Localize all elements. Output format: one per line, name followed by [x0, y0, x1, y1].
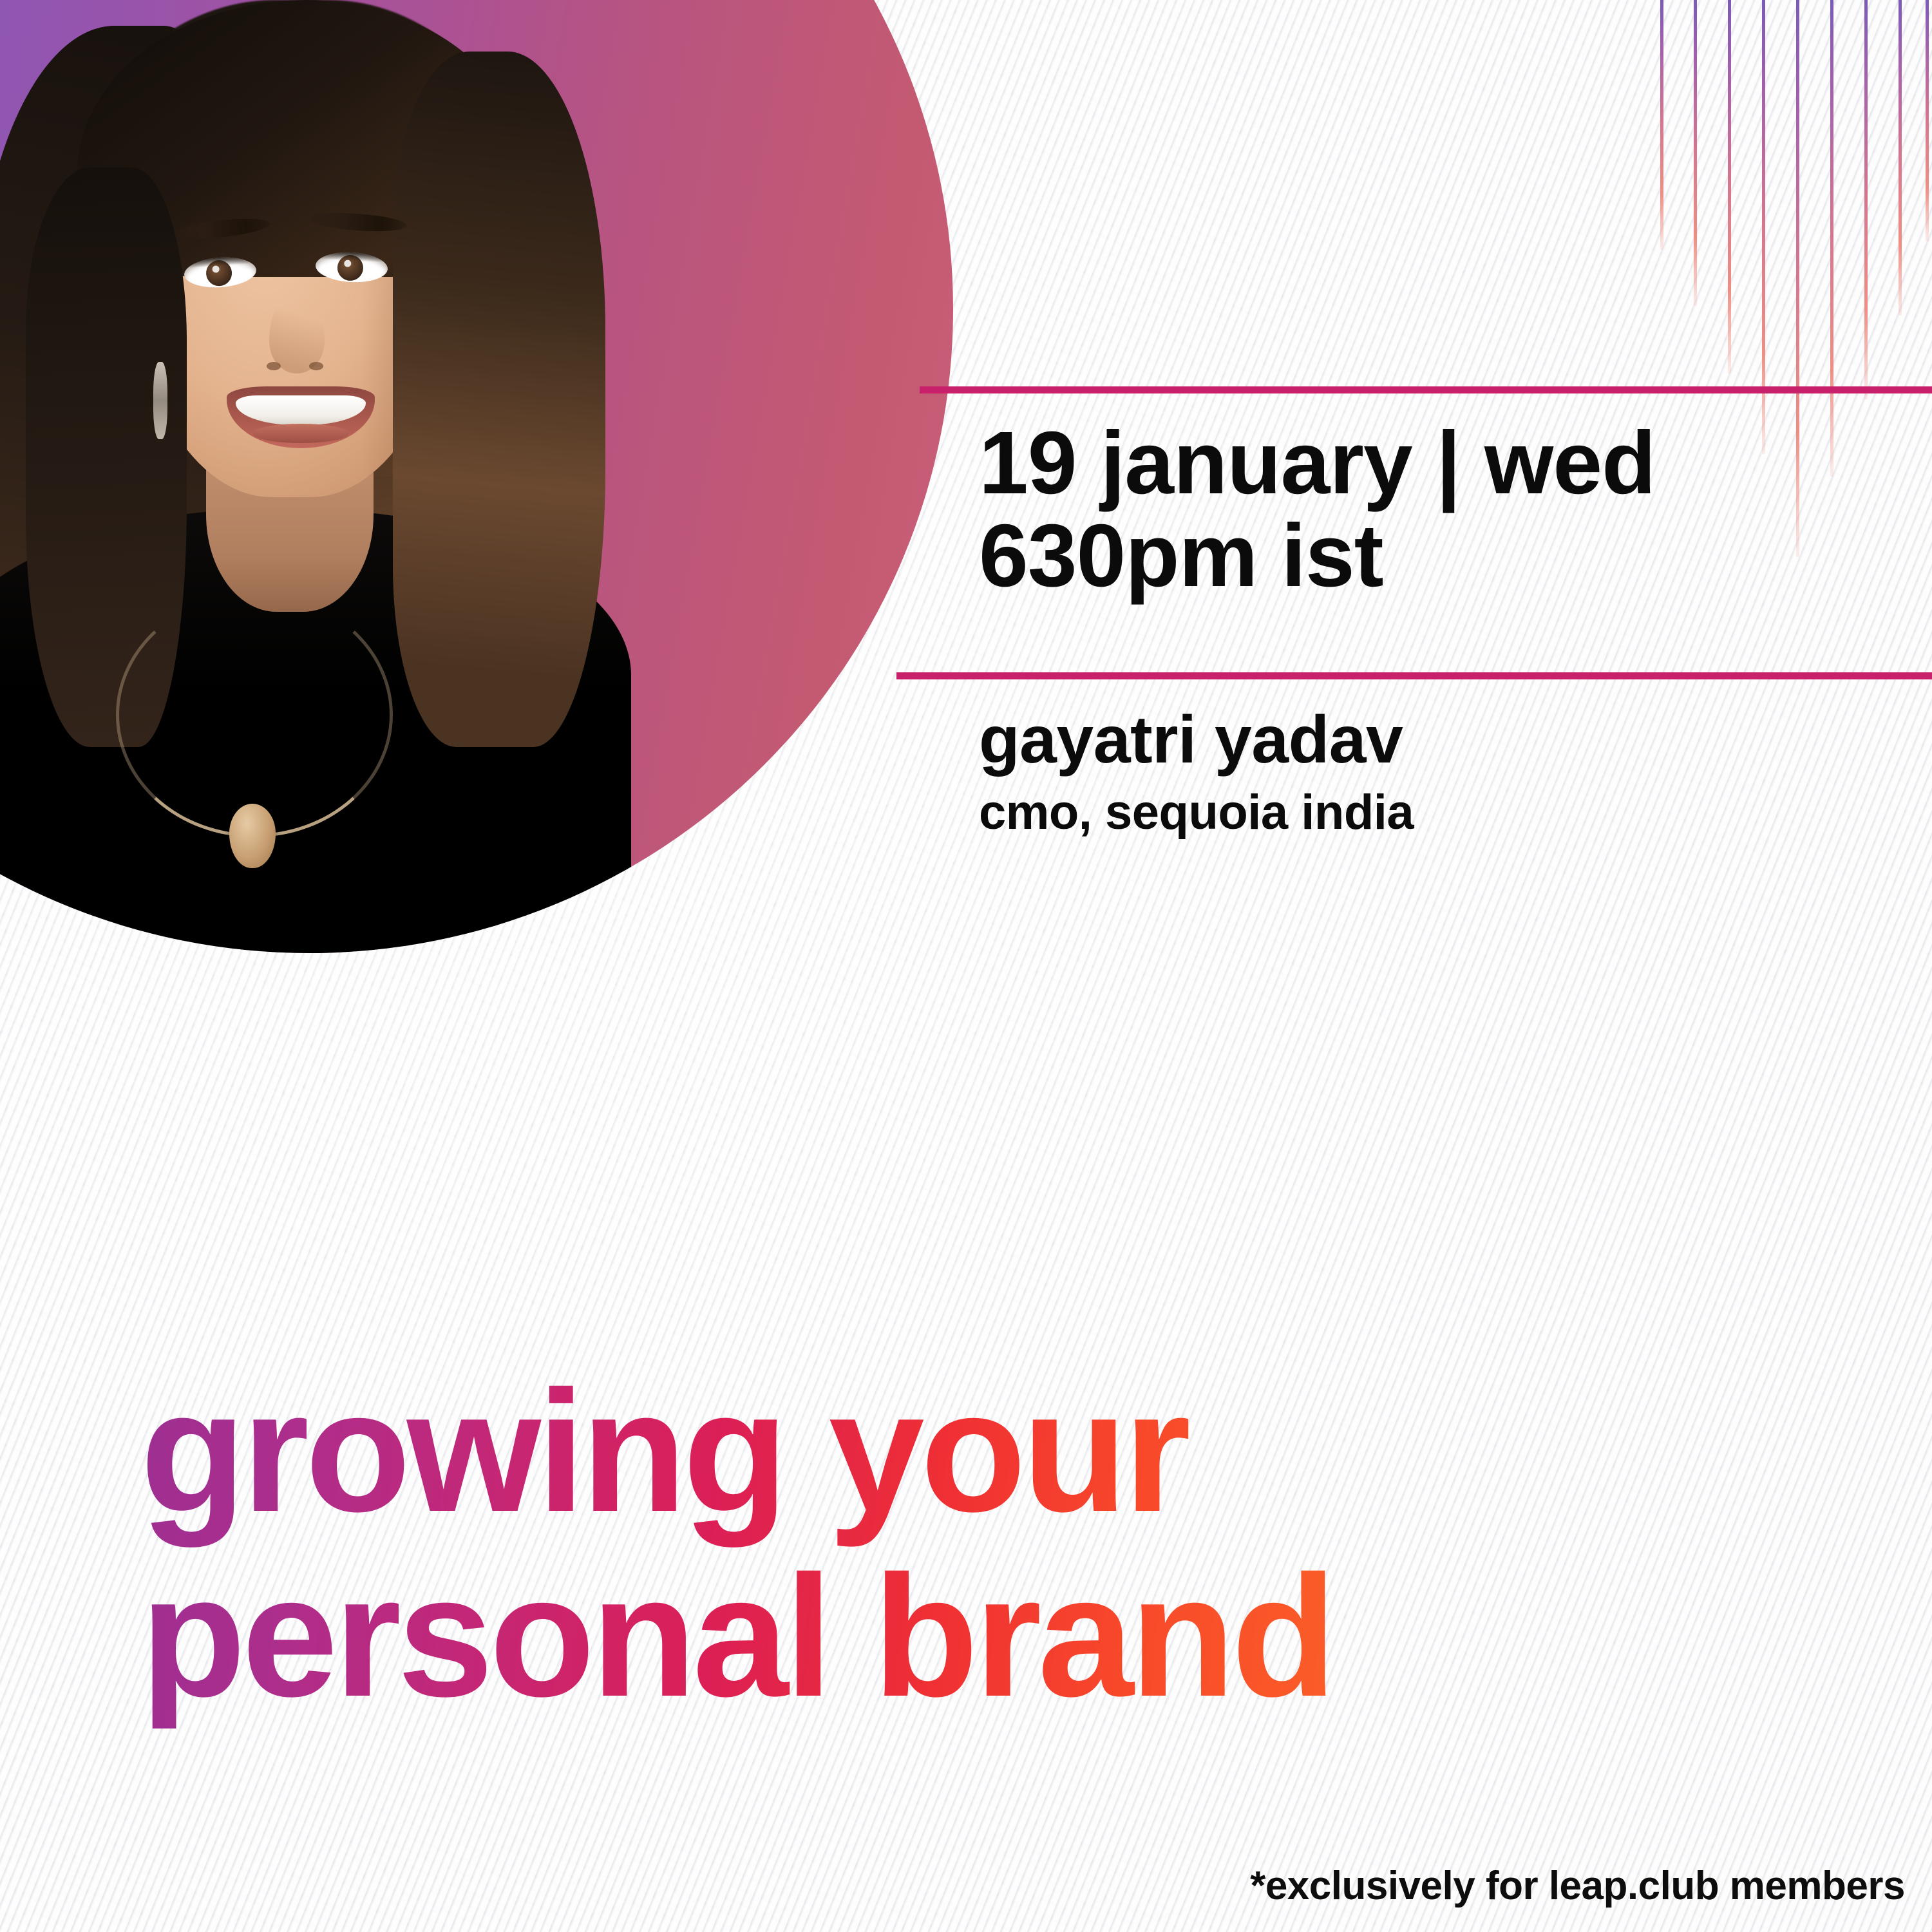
- necklace-chain: [116, 592, 393, 837]
- speaker-portrait-circle: [0, 0, 953, 953]
- speaker-name: gayatri yadav: [979, 702, 1403, 779]
- nostril-right: [309, 362, 323, 370]
- necklace-pendant: [229, 804, 276, 868]
- page-title: growing your personal brand: [140, 1359, 1557, 1728]
- teeth: [236, 395, 366, 425]
- decorative-line-9: [1926, 0, 1929, 241]
- event-datetime: 19 january | wed 630pm ist: [979, 417, 1655, 602]
- nostril-left: [267, 362, 281, 370]
- lower-lip: [252, 424, 349, 443]
- decorative-line-3: [1728, 0, 1731, 374]
- event-poster: 19 january | wed 630pm ist gayatri yadav…: [0, 0, 1932, 1932]
- divider-middle: [896, 672, 1932, 679]
- decorative-line-1: [1660, 0, 1663, 250]
- speaker-portrait-illustration: [0, 0, 953, 953]
- decorative-line-5: [1796, 0, 1799, 557]
- speaker-role: cmo, sequoia india: [979, 784, 1414, 840]
- decorative-line-6: [1830, 0, 1833, 477]
- decorative-line-2: [1694, 0, 1697, 306]
- hair-strand-right: [393, 52, 605, 747]
- decorative-line-8: [1899, 0, 1902, 316]
- footer-note: *exclusively for leap.club members: [1250, 1863, 1905, 1909]
- decorative-vertical-lines: [1649, 0, 1932, 270]
- earring: [153, 362, 167, 439]
- divider-top: [920, 386, 1932, 393]
- decorative-line-7: [1864, 0, 1868, 399]
